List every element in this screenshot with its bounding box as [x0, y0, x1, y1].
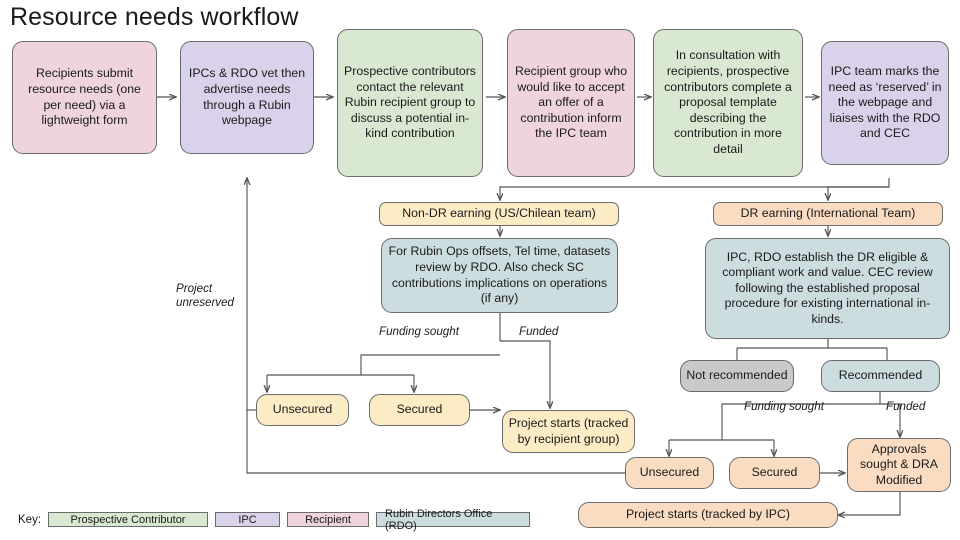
- node-not-recommended[interactable]: Not recommended: [680, 360, 794, 392]
- node-dr-unsecured[interactable]: Unsecured: [625, 457, 714, 489]
- legend-item-prospective-contributor: Prospective Contributor: [48, 512, 208, 527]
- node-nondr-unsecured[interactable]: Unsecured: [256, 394, 349, 426]
- workflow-diagram: Resource needs workflow: [0, 0, 960, 540]
- node-nondr-secured[interactable]: Secured: [369, 394, 470, 426]
- node-dr-header[interactable]: DR earning (International Team): [713, 202, 943, 226]
- edge-label-nondr-funded: Funded: [519, 325, 558, 339]
- edge-label-dr-funded: Funded: [886, 400, 925, 414]
- legend-item-recipient: Recipient: [287, 512, 369, 527]
- node-dr-project-starts[interactable]: Project starts (tracked by IPC): [578, 502, 838, 528]
- legend-item-ipc: IPC: [215, 512, 280, 527]
- legend-item-rdo: Rubin Directors Office (RDO): [376, 512, 530, 527]
- page-title: Resource needs workflow: [10, 2, 299, 32]
- node-nondr-project-starts[interactable]: Project starts (tracked by recipient gro…: [502, 410, 635, 453]
- legend: Key: Prospective Contributor IPC Recipie…: [18, 512, 530, 527]
- edge-approvals-to-project: [838, 492, 900, 515]
- edge-label-nondr-funding-sought: Funding sought: [379, 325, 459, 339]
- node-contact-group[interactable]: Prospective contributors contact the rel…: [337, 29, 483, 177]
- node-proposal-template[interactable]: In consultation with recipients, prospec…: [653, 29, 803, 177]
- edge-label-dr-funding-sought: Funding sought: [744, 400, 824, 414]
- node-non-dr-review[interactable]: For Rubin Ops offsets, Tel time, dataset…: [381, 238, 618, 313]
- edge-nondr-funded: [500, 341, 550, 408]
- node-submit-needs[interactable]: Recipients submit resource needs (one pe…: [12, 41, 157, 154]
- node-non-dr-header[interactable]: Non-DR earning (US/Chilean team): [379, 202, 619, 226]
- node-dr-secured[interactable]: Secured: [729, 457, 820, 489]
- node-approvals[interactable]: Approvals sought & DRA Modified: [847, 438, 951, 492]
- node-dr-review[interactable]: IPC, RDO establish the DR eligible & com…: [705, 238, 950, 339]
- edge-mark-to-nondr: [500, 187, 889, 200]
- node-mark-reserved[interactable]: IPC team marks the need as ‘reserved’ in…: [821, 41, 949, 165]
- edge-mark-to-dr: [828, 178, 889, 200]
- edge-nondr-funding-sought: [361, 355, 500, 375]
- node-accept-offer[interactable]: Recipient group who would like to accept…: [507, 29, 635, 177]
- node-vet-advertise[interactable]: IPCs & RDO vet then advertise needs thro…: [180, 41, 314, 154]
- edge-label-project-unreserved: Project unreserved: [176, 282, 242, 310]
- node-recommended[interactable]: Recommended: [821, 360, 940, 392]
- legend-label: Key:: [18, 514, 41, 526]
